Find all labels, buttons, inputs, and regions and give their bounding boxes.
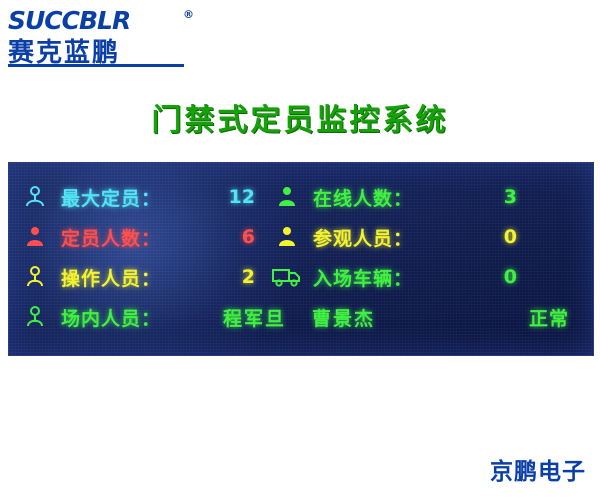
assigned-count-label: 定员人数： [61,224,201,251]
operator-count-label: 操作人员： [61,264,201,291]
online-count-label: 在线人数： [313,184,463,211]
assigned-count-value: 6 [201,226,261,248]
page-title: 门禁式定员监控系统 [0,95,600,139]
operator-count-value: 2 [201,266,261,288]
person-online-green-icon [261,184,313,210]
panel-stats-grid: 最大定员： 12 在线人数： 3 定员人数： 6 参观人员： [9,177,593,297]
person-name: 程军旦 [223,304,286,331]
max-capacity-label: 最大定员： [61,184,201,211]
person-head-green-icon [9,304,61,330]
status-badge: 正常 [529,304,593,331]
person-head-cyan-icon [9,184,61,210]
logo-underline [8,64,184,67]
logo-english-text: SUCCBLR [8,6,130,35]
registered-trademark-icon: ® [183,8,194,21]
person-operator-yellow-icon [9,264,61,290]
vehicles-count-label: 入场车辆： [313,264,463,291]
online-count-value: 3 [463,186,523,208]
onsite-personnel-names: 程军旦 曹景杰 [209,304,529,331]
person-name: 曹景杰 [312,304,375,331]
footer-company-name: 京鹏电子 [490,452,586,486]
person-visitor-yellow-icon [261,224,313,250]
visitor-count-value: 0 [463,226,523,248]
onsite-personnel-label: 场内人员： [61,304,209,331]
visitor-count-label: 参观人员： [313,224,463,251]
onsite-personnel-row: 场内人员： 程军旦 曹景杰 正常 [9,297,593,337]
led-display-panel: 最大定员： 12 在线人数： 3 定员人数： 6 参观人员： [8,162,594,356]
person-head-red-icon [9,224,61,250]
truck-green-icon [261,266,313,288]
max-capacity-value: 12 [201,186,261,208]
vehicles-count-value: 0 [463,266,523,288]
brand-logo: SUCCBLR ® 赛克蓝鹏 [8,6,238,68]
